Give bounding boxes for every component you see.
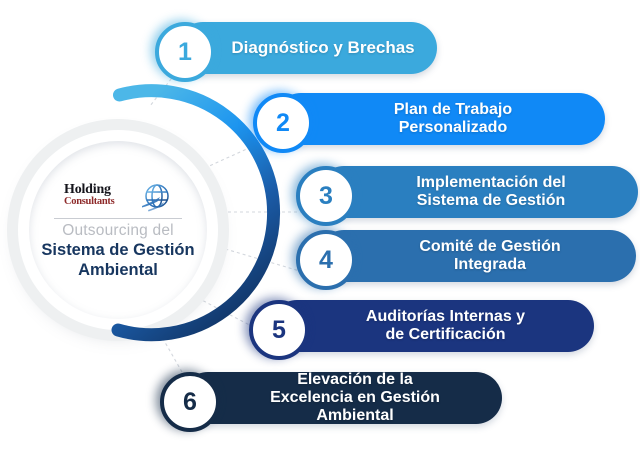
infographic-canvas: Holding Consultants [0,0,640,453]
globe-icon [136,181,178,215]
step-label: Elevación de la Excelencia en Gestión Am… [230,371,454,425]
step-3[interactable]: Implementación del Sistema de Gestión3 [296,166,638,218]
step-label: Comité de Gestión Integrada [379,238,574,274]
step-badge[interactable]: 1 [155,22,215,82]
emblem-title-line1: Sistema de Gestión [41,240,194,260]
logo-name-top: Holding [64,183,111,197]
step-badge[interactable]: 3 [296,166,356,226]
step-bar[interactable]: Auditorías Internas y de Certificación [271,300,594,352]
step-label: Implementación del Sistema de Gestión [376,174,579,210]
step-4[interactable]: Comité de Gestión Integrada4 [296,230,636,282]
step-label: Plan de Trabajo Personalizado [354,101,526,137]
step-5[interactable]: Auditorías Internas y de Certificación5 [249,300,594,352]
step-bar[interactable]: Implementación del Sistema de Gestión [318,166,638,218]
step-2[interactable]: Plan de Trabajo Personalizado2 [253,93,605,145]
emblem-content: Holding Consultants [18,130,218,330]
step-badge[interactable]: 2 [253,93,313,153]
emblem-subtitle: Outsourcing del [62,222,174,240]
step-1[interactable]: Diagnóstico y Brechas1 [155,22,437,74]
step-badge[interactable]: 4 [296,230,356,290]
step-badge[interactable]: 5 [249,300,309,360]
company-logo: Holding Consultants [56,181,180,215]
central-emblem: Holding Consultants [18,130,218,330]
step-bar[interactable]: Plan de Trabajo Personalizado [275,93,605,145]
step-label: Auditorías Internas y de Certificación [326,308,539,344]
logo-name-bottom: Consultants [64,196,114,207]
logo-divider [54,218,182,219]
emblem-title-line2: Ambiental [78,260,158,280]
step-badge[interactable]: 6 [160,372,220,432]
step-6[interactable]: Elevación de la Excelencia en Gestión Am… [160,372,502,424]
step-bar[interactable]: Elevación de la Excelencia en Gestión Am… [182,372,502,424]
step-label: Diagnóstico y Brechas [185,39,428,57]
step-bar[interactable]: Comité de Gestión Integrada [318,230,636,282]
step-bar[interactable]: Diagnóstico y Brechas [177,22,437,74]
